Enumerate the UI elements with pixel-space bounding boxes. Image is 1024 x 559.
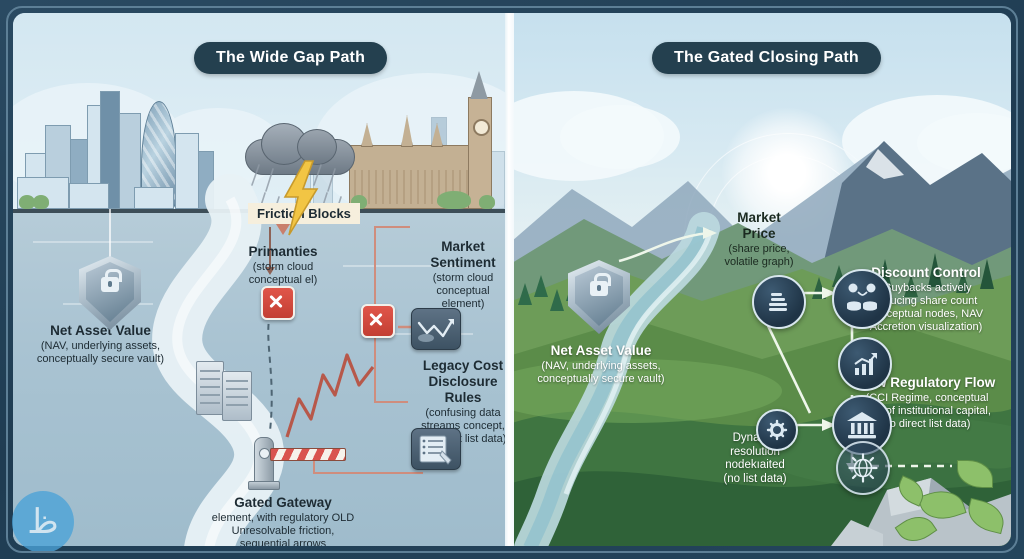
declining-chart-icon xyxy=(411,308,461,350)
skyline-building xyxy=(69,183,109,209)
document-rules-icon xyxy=(411,428,461,470)
tree-icon xyxy=(479,195,495,209)
coin-exchange-icon xyxy=(832,269,892,329)
bar-growth-icon xyxy=(838,337,892,391)
connector-line xyxy=(374,401,408,403)
label-primanties: Primanties (storm cloud conceptual el) xyxy=(228,244,338,287)
connector-line xyxy=(374,226,376,248)
right-panel-title-badge: The Gated Closing Path xyxy=(652,42,881,74)
label-title: Market Sentiment xyxy=(413,239,507,271)
left-panel-wide-gap-path: Friction Blocks Net Asset Value (NAV, un… xyxy=(13,13,507,546)
connector-line xyxy=(374,226,410,228)
globe-gear-icon xyxy=(836,441,890,495)
label-subtitle: (storm cloud conceptual element) xyxy=(413,272,507,311)
big-ben-icon xyxy=(468,97,492,209)
label-subtitle: (NAV, underlying assets, conceptually se… xyxy=(516,360,686,386)
skyline-building xyxy=(175,133,199,209)
label-title: Net Asset Value xyxy=(23,323,178,339)
x-block-icon xyxy=(361,304,395,338)
label-title: Gated Gateway xyxy=(188,495,378,511)
infographic-stage: Friction Blocks Net Asset Value (NAV, un… xyxy=(13,13,1011,546)
x-block-icon xyxy=(261,286,295,320)
nav-connector-line xyxy=(108,209,112,259)
volatility-zigzag-line xyxy=(285,349,377,439)
label-title: Net Asset Value xyxy=(516,343,686,359)
label-net-asset-value: Net Asset Value (NAV, underlying assets,… xyxy=(516,343,686,386)
entry-flow-arrow xyxy=(617,225,727,265)
cash-stack-icon xyxy=(752,275,806,329)
panel-divider xyxy=(505,13,514,546)
right-panel-gated-closing-path: Net Asset Value (NAV, underlying assets,… xyxy=(512,13,1011,546)
label-gated-gateway: Gated Gateway element, with regulatory O… xyxy=(188,495,378,546)
left-panel-title-badge: The Wide Gap Path xyxy=(194,42,387,74)
label-title: Legacy Cost Disclosure Rules xyxy=(405,358,507,406)
connector-line xyxy=(313,472,423,474)
clock-face-icon xyxy=(473,119,490,136)
label-market-sentiment: Market Sentiment (storm cloud conceptual… xyxy=(413,239,507,311)
dashed-path-line xyxy=(262,313,278,431)
gear-icon xyxy=(756,409,798,451)
label-subtitle: (NAV, underlying assets, conceptually se… xyxy=(23,340,178,366)
label-net-asset-value: Net Asset Value (NAV, underlying assets,… xyxy=(23,323,178,366)
watermark-glyph: ظ xyxy=(27,502,58,542)
tree-icon xyxy=(33,195,49,209)
lightning-bolt-icon xyxy=(279,161,323,235)
label-title: Primanties xyxy=(228,244,338,260)
label-subtitle: element, with regulatory OLD Unresolvabl… xyxy=(188,512,378,546)
infographic-frame: Friction Blocks Net Asset Value (NAV, un… xyxy=(0,0,1024,559)
label-subtitle: (storm cloud conceptual el) xyxy=(228,261,338,287)
watermark-logo: ظ xyxy=(12,491,74,553)
